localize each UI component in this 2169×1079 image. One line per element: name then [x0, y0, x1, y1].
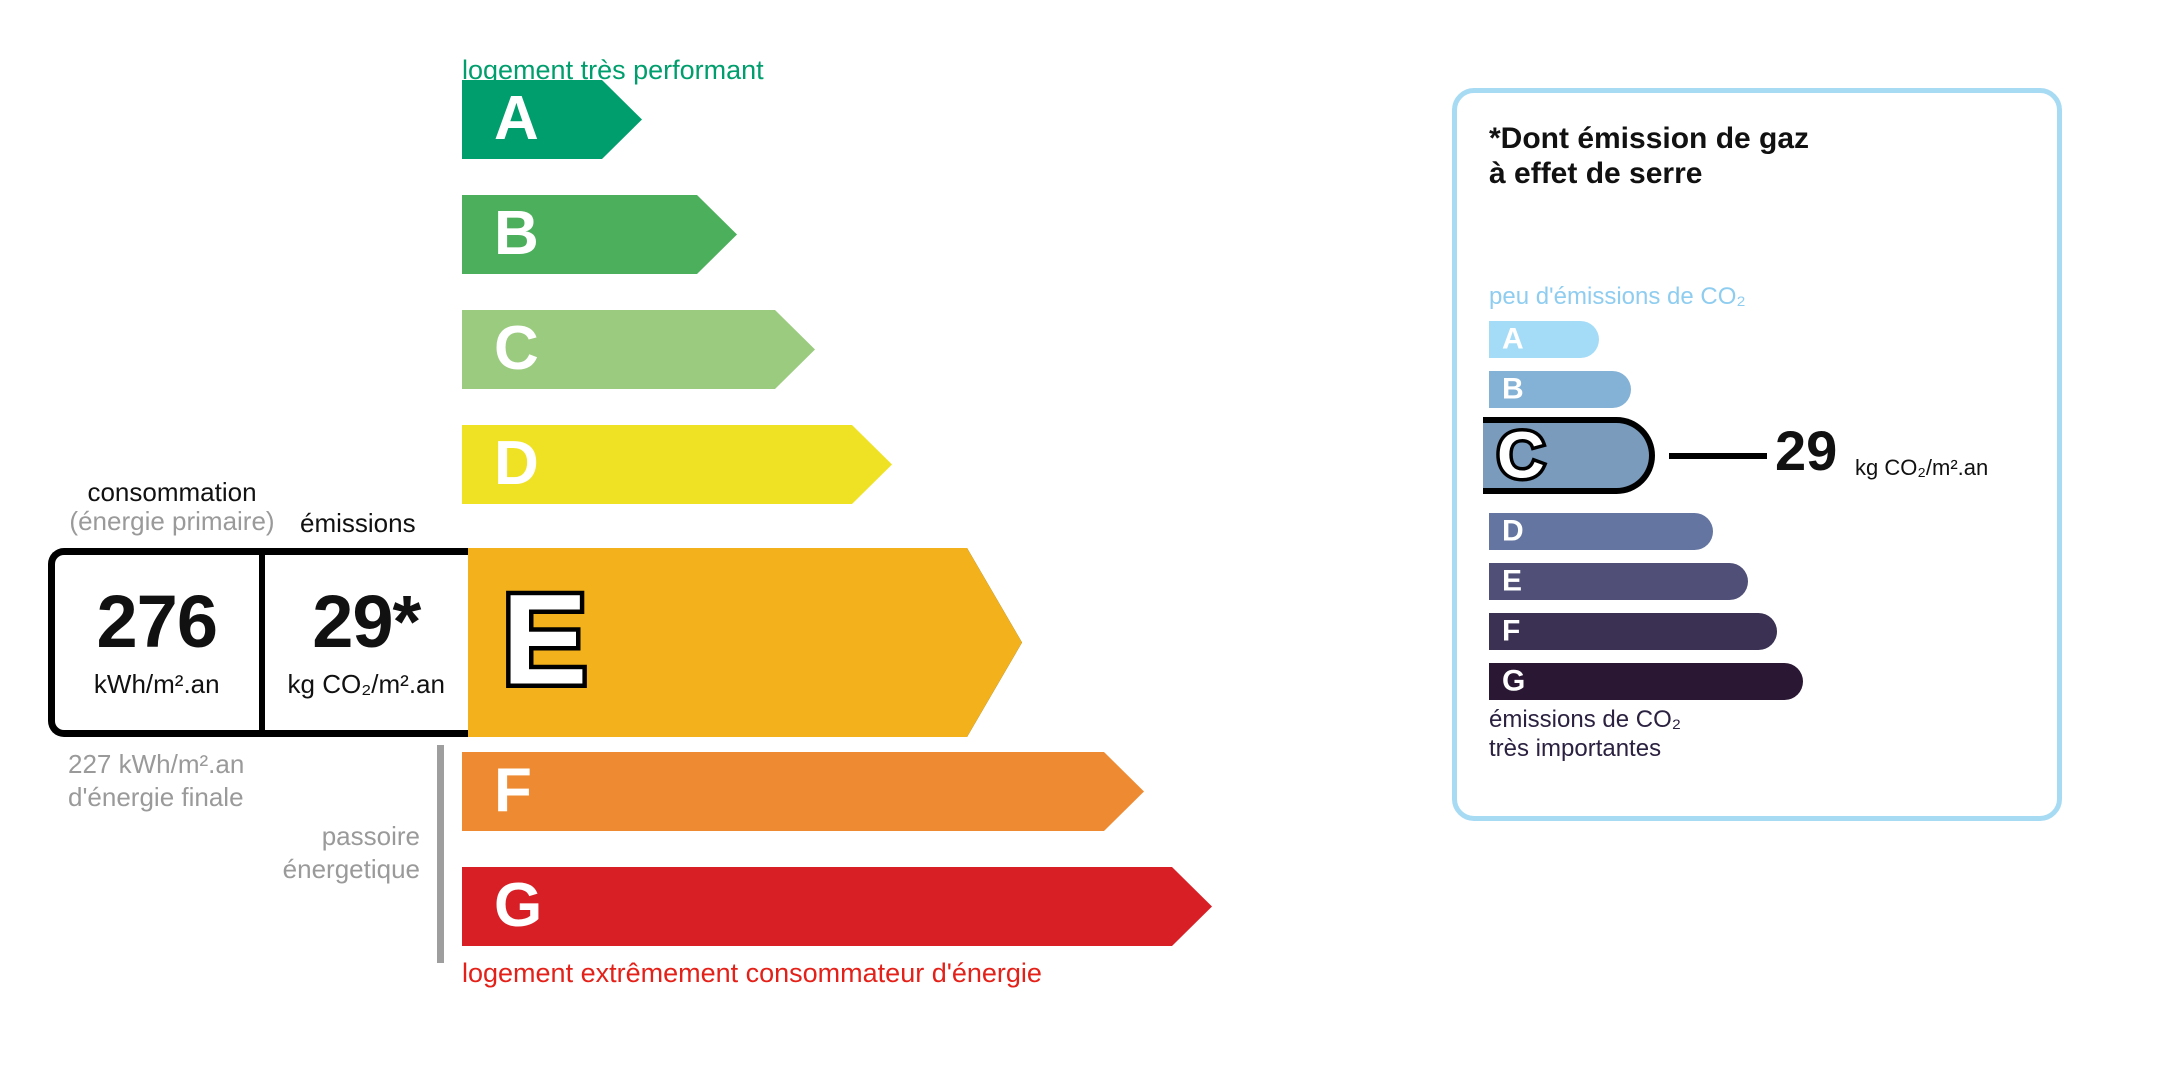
passoire-line1: passoire	[322, 821, 420, 851]
energy-class-letter: B	[494, 202, 539, 264]
co2-callout-unit: kg CO₂/m².an	[1855, 455, 1988, 481]
co2-class-bar-b[interactable]: B	[1489, 371, 1631, 408]
final-energy-line2: d'énergie finale	[68, 782, 244, 812]
energy-class-letter: E	[502, 576, 587, 704]
co2-title-line2: à effet de serre	[1489, 157, 1702, 190]
consumption-value: 276	[97, 585, 217, 659]
passoire-divider	[437, 745, 444, 963]
co2-class-letter: A	[1502, 324, 1524, 354]
co2-title-line1: *Dont émission de gaz	[1489, 122, 1809, 155]
co2-bottom-line1: émissions de CO₂	[1489, 706, 1681, 733]
co2-callout-leader-line	[1669, 453, 1767, 459]
co2-panel-title: *Dont émission de gaz à effet de serre	[1489, 121, 1809, 192]
co2-callout-value: 29	[1775, 423, 1837, 479]
co2-class-bar-a[interactable]: A	[1489, 321, 1599, 358]
final-energy-note: 227 kWh/m².an d'énergie finale	[68, 748, 244, 813]
co2-class-letter: B	[1502, 374, 1524, 404]
bar-shape	[462, 867, 1212, 946]
bar-shape	[462, 752, 1144, 831]
co2-class-letter: C	[1497, 421, 1545, 487]
energy-class-letter: D	[494, 432, 539, 494]
passoire-line2: énergetique	[283, 854, 420, 884]
energy-class-bar-b[interactable]: B	[462, 195, 737, 274]
co2-class-bar-c-selected[interactable]: C	[1483, 417, 1655, 494]
co2-bottom-caption: émissions de CO₂ très importantes	[1489, 705, 1681, 764]
energy-class-bar-g[interactable]: G	[462, 867, 1212, 946]
energy-class-letter: A	[494, 87, 539, 149]
energy-class-bar-e-selected[interactable]: E	[462, 548, 1022, 737]
energy-class-letter: C	[494, 317, 539, 379]
final-energy-line1: 227 kWh/m².an	[68, 749, 244, 779]
emission-value-cell: 29* kg CO₂/m².an	[259, 555, 469, 730]
emission-value: 29*	[312, 585, 420, 659]
consumption-label-main: consommation	[87, 477, 256, 507]
consumption-unit: kWh/m².an	[94, 669, 220, 700]
co2-class-bar-d[interactable]: D	[1489, 513, 1713, 550]
co2-class-bar-g[interactable]: G	[1489, 663, 1803, 700]
passoire-label: passoire énergetique	[180, 820, 420, 885]
energy-class-bar-f[interactable]: F	[462, 752, 1144, 831]
energy-class-letter: G	[494, 874, 542, 936]
energy-class-letter: F	[494, 759, 532, 821]
consumption-value-cell: 276 kWh/m².an	[55, 555, 259, 730]
co2-class-bar-f[interactable]: F	[1489, 613, 1777, 650]
scale-bottom-caption: logement extrêmement consommateur d'éner…	[462, 958, 1042, 989]
consumption-label: consommation (énergie primaire)	[62, 478, 282, 536]
energy-class-bar-c[interactable]: C	[462, 310, 815, 389]
co2-class-letter: G	[1502, 666, 1525, 696]
energy-class-bar-d[interactable]: D	[462, 425, 892, 504]
emission-unit: kg CO₂/m².an	[288, 669, 445, 700]
energy-performance-scale: logement très performant A B C D E F G l…	[0, 0, 1400, 1079]
energy-class-bar-a[interactable]: A	[462, 80, 642, 159]
co2-emissions-panel: *Dont émission de gaz à effet de serre p…	[1452, 88, 2062, 821]
bar-shape	[462, 80, 642, 159]
co2-class-bar-e[interactable]: E	[1489, 563, 1748, 600]
co2-bottom-line2: très importantes	[1489, 735, 1661, 762]
co2-top-caption: peu d'émissions de CO₂	[1489, 283, 1746, 311]
co2-class-letter: D	[1502, 516, 1524, 546]
co2-class-letter: E	[1502, 566, 1522, 596]
value-box: 276 kWh/m².an 29* kg CO₂/m².an	[48, 548, 468, 737]
consumption-label-sub: (énergie primaire)	[62, 507, 282, 536]
emissions-label: émissions	[300, 508, 416, 539]
co2-class-letter: F	[1502, 616, 1520, 646]
